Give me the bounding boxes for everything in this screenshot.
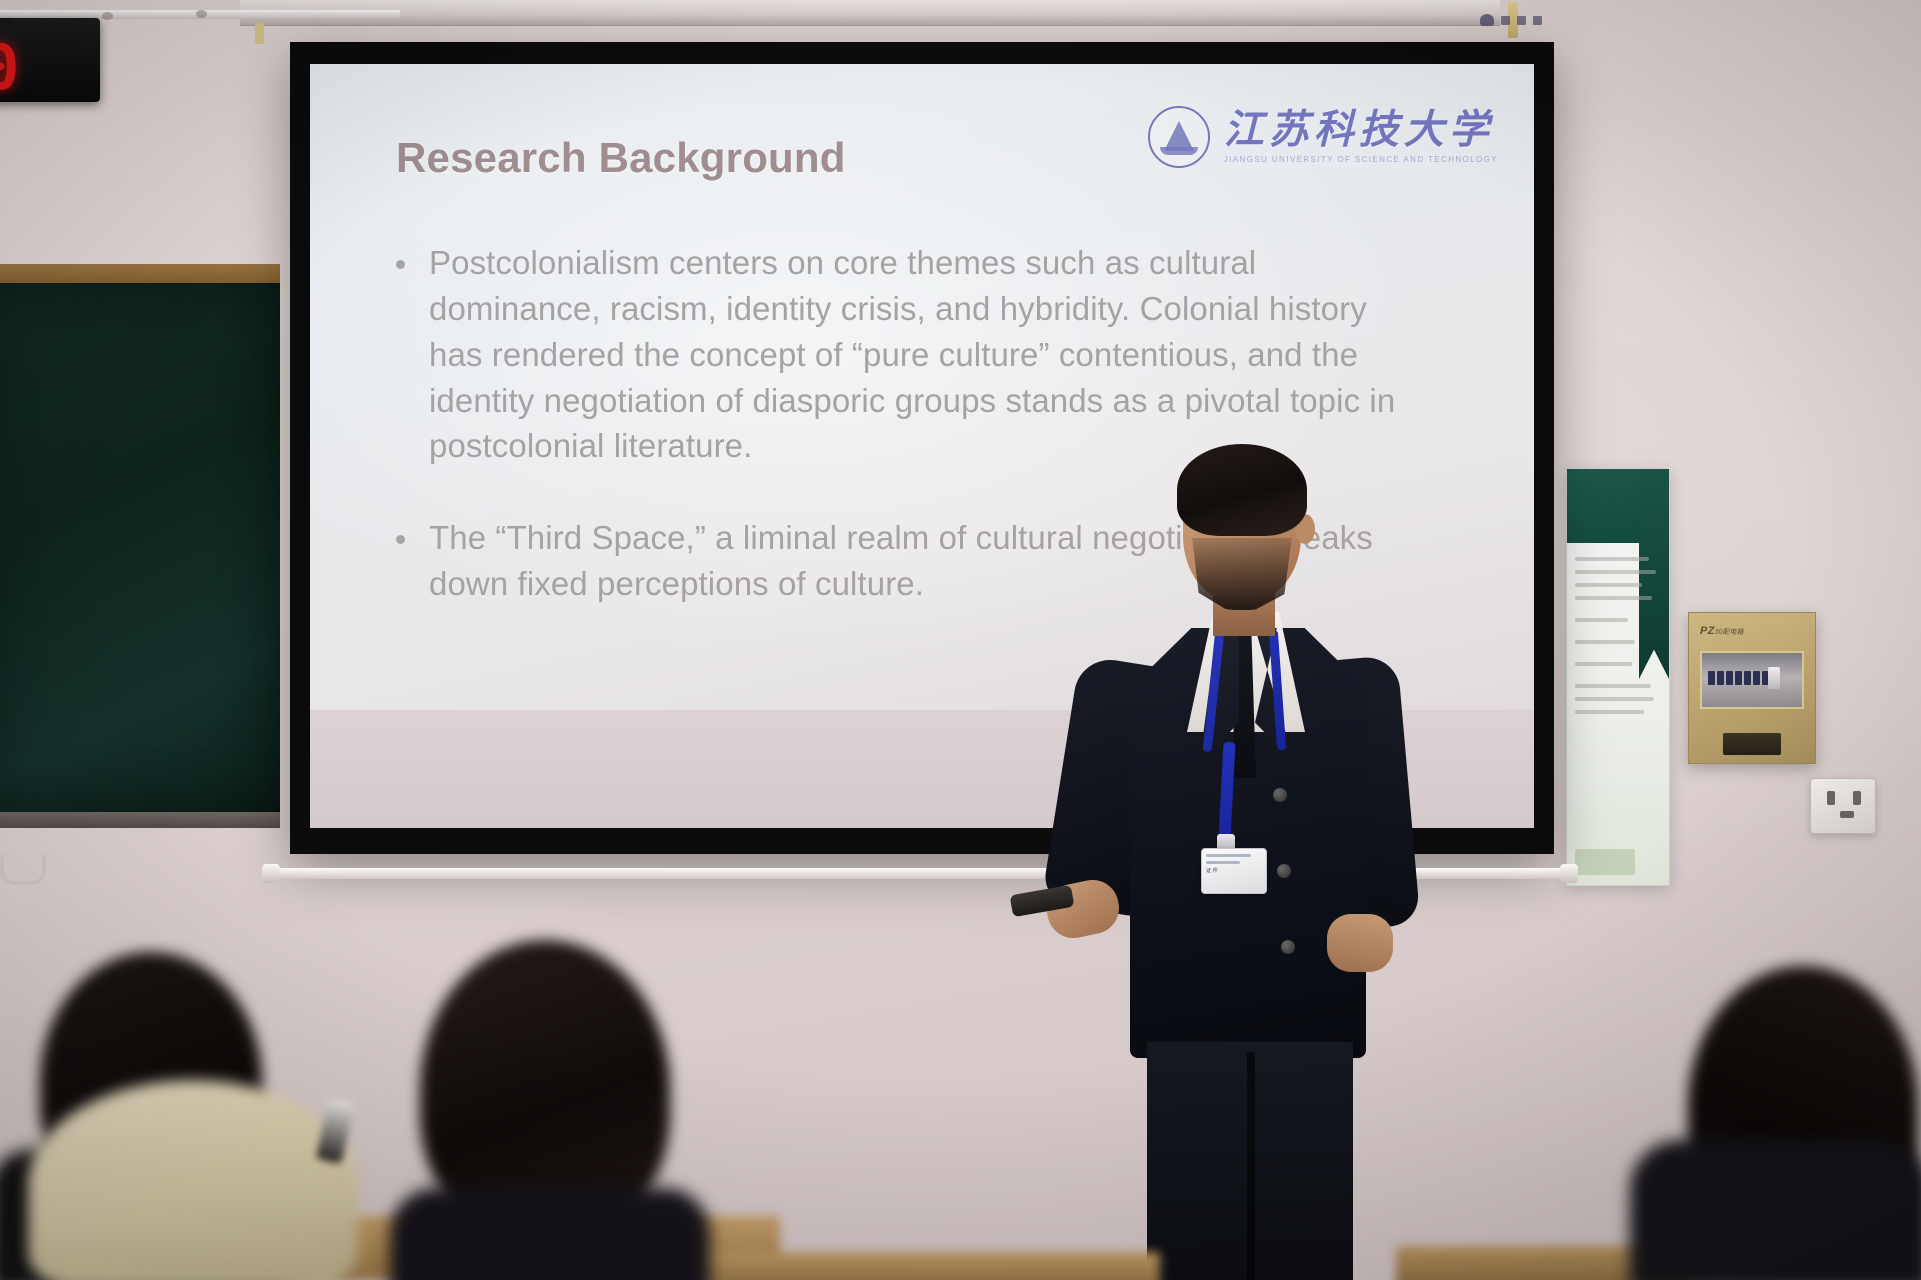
green-chalkboard xyxy=(0,283,280,815)
rail-hook-icon xyxy=(255,22,264,44)
audience-member-hijab xyxy=(28,1080,358,1280)
presenter-hair xyxy=(1177,444,1307,536)
slide-bullet-text: Postcolonialism centers on core themes s… xyxy=(429,240,1414,469)
wall-screw-icon xyxy=(102,12,113,20)
presenter-beard xyxy=(1189,538,1295,610)
university-emblem-icon xyxy=(1148,106,1210,168)
main-breaker-switch[interactable] xyxy=(1768,667,1780,689)
bullet-dot-icon xyxy=(396,535,405,544)
panel-model-label: PZ30配电箱 xyxy=(1700,625,1743,637)
trouser-leg-seam xyxy=(1247,1052,1255,1280)
presenter: 证 件 xyxy=(1105,452,1405,1280)
panel-breaker-window xyxy=(1700,651,1804,709)
audience-member-center-body xyxy=(390,1188,710,1280)
bullet-dot-icon xyxy=(396,260,405,269)
audience-member-right-body xyxy=(1630,1140,1921,1280)
housing-label-marks xyxy=(1480,14,1542,26)
screen-bar-cap-right xyxy=(1560,864,1578,883)
poster-ribbon-icon xyxy=(1639,469,1669,679)
presenter-id-badge: 证 件 xyxy=(1201,848,1267,894)
student-desk xyxy=(700,1252,1160,1280)
wall-power-socket[interactable] xyxy=(1810,778,1876,834)
jacket-button-icon xyxy=(1277,864,1291,878)
classroom-scene: 0 PZ30配电箱 xyxy=(0,0,1921,1280)
poster-footer-band xyxy=(1575,849,1635,875)
badge-text: 证 件 xyxy=(1206,868,1262,876)
wall-hook-icon xyxy=(0,855,46,885)
screen-bar-cap-left xyxy=(262,864,280,883)
led-clock-digits: 0 xyxy=(0,31,21,102)
slide-bullet-item: Postcolonialism centers on core themes s… xyxy=(396,240,1448,469)
university-wordmark: 江苏科技大学 xyxy=(1224,110,1498,150)
projector-screen-housing xyxy=(240,0,1500,26)
led-wall-clock: 0 xyxy=(0,18,100,102)
led-clock-mount xyxy=(0,18,12,26)
panel-lower-slot xyxy=(1723,733,1781,755)
electrical-distribution-box[interactable]: PZ30配电箱 xyxy=(1688,612,1816,764)
exam-rules-poster xyxy=(1566,468,1670,886)
jacket-button-icon xyxy=(1281,940,1295,954)
university-wordmark-subtitle: JIANGSU UNIVERSITY OF SCIENCE AND TECHNO… xyxy=(1224,155,1498,164)
blackboard-chalk-tray xyxy=(0,812,280,828)
jacket-button-icon xyxy=(1273,788,1287,802)
presenter-right-hand xyxy=(1327,914,1393,972)
university-logo: 江苏科技大学 JIANGSU UNIVERSITY OF SCIENCE AND… xyxy=(1148,106,1498,168)
wall-screw-icon xyxy=(196,10,207,18)
